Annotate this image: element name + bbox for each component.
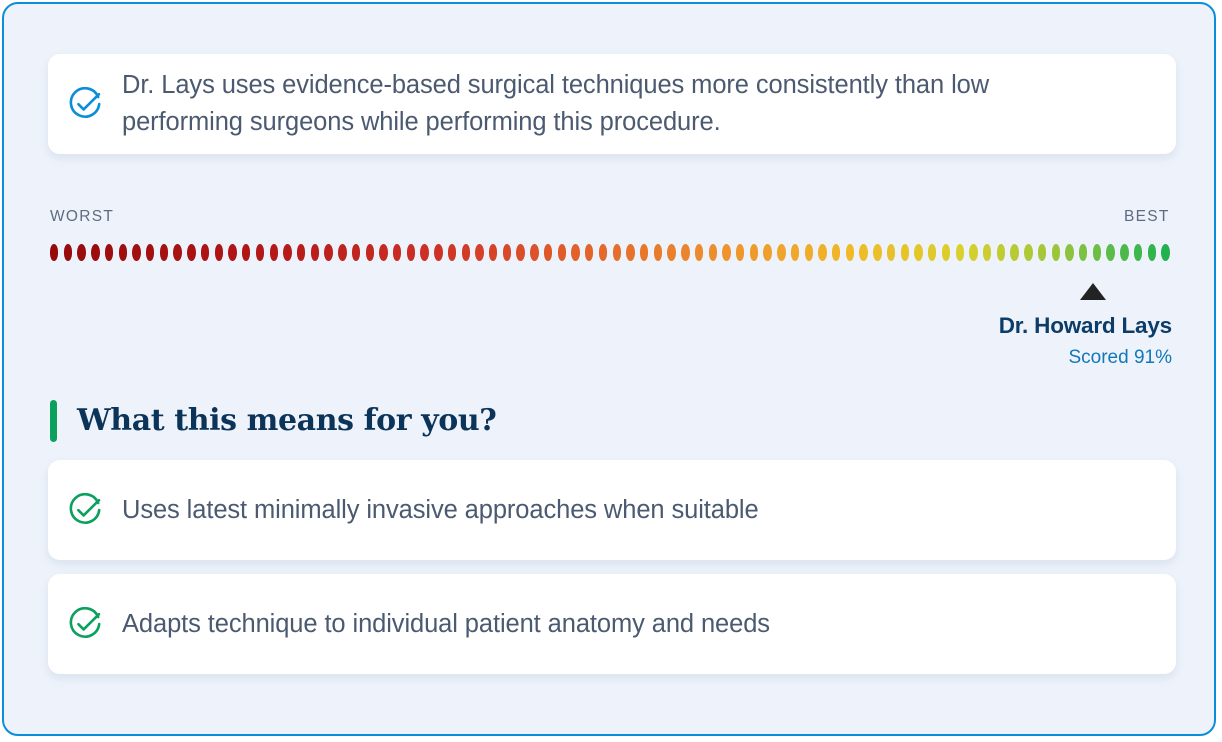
scale-dot [914,244,922,261]
scale-dot [956,244,964,261]
scale-dot [530,244,538,261]
scale-dot [777,244,785,261]
scale-dot [1148,244,1156,261]
scale-dot [1010,244,1018,261]
summary-text: Dr. Lays uses evidence-based surgical te… [122,67,1102,141]
scale-dot [859,244,867,261]
check-circle-icon [68,607,102,641]
scale-dot [997,244,1005,261]
scale-dot [407,244,415,261]
scale-dot [1093,244,1101,261]
scale-dot [571,244,579,261]
scale-dot [1065,244,1073,261]
scale-dot [942,244,950,261]
scale-dot [393,244,401,261]
scale-dot [763,244,771,261]
scale-dot [242,244,250,261]
scale-dot [599,244,607,261]
scale-dot [613,244,621,261]
check-circle-icon [68,87,102,121]
scale-dot [91,244,99,261]
scale-dot [887,244,895,261]
scale-dot [667,244,675,261]
scale-dot [105,244,113,261]
scale-dot [585,244,593,261]
scale-dot [1106,244,1114,261]
app-frame: Dr. Lays uses evidence-based surgical te… [2,2,1216,736]
performance-dot-scale [50,244,1176,264]
scale-dot [1134,244,1142,261]
scale-dot [516,244,524,261]
scale-dot [215,244,223,261]
scale-dot [1120,244,1128,261]
scale-dot [626,244,634,261]
scale-dot [132,244,140,261]
scale-dot [846,244,854,261]
scale-dot [681,244,689,261]
marker-doctor-name: Dr. Howard Lays [999,313,1172,339]
scale-dot [928,244,936,261]
scale-dot [873,244,881,261]
scale-dot [1161,244,1169,261]
benefit-text: Uses latest minimally invasive approache… [122,492,759,529]
scale-dot [640,244,648,261]
scale-dot [832,244,840,261]
scale-dot [77,244,85,261]
scale-dot [324,244,332,261]
scale-label-best: BEST [1124,208,1170,226]
scale-dot [1024,244,1032,261]
scale-dot [709,244,717,261]
scale-dot [969,244,977,261]
heading-accent-bar [50,400,57,442]
scale-dot [187,244,195,261]
scale-dot [352,244,360,261]
scale-dot [64,244,72,261]
scale-dot [283,244,291,261]
triangle-marker-icon [1080,283,1106,300]
scale-dot [1038,244,1046,261]
scale-dot [434,244,442,261]
scale-dot [338,244,346,261]
scale-dot [805,244,813,261]
scale-dot [201,244,209,261]
benefit-text: Adapts technique to individual patient a… [122,606,770,643]
scale-dot [173,244,181,261]
scale-dot [654,244,662,261]
scale-dot [1079,244,1087,261]
scale-dot [558,244,566,261]
benefit-card: Adapts technique to individual patient a… [48,574,1176,674]
scale-dot [503,244,511,261]
scale-dot [270,244,278,261]
scale-dot [983,244,991,261]
scale-dot [119,244,127,261]
scale-marker: Dr. Howard Lays Scored 91% [4,283,1216,383]
marker-score-text: Scored 91% [1068,347,1172,369]
section-heading-text: What this means for you? [77,406,496,436]
scale-dot [736,244,744,261]
scale-dot [462,244,470,261]
scale-dot [146,244,154,261]
summary-card: Dr. Lays uses evidence-based surgical te… [48,54,1176,154]
scale-dot [366,244,374,261]
scale-dot [297,244,305,261]
check-circle-icon [68,493,102,527]
scale-dot [791,244,799,261]
scale-dot [722,244,730,261]
scale-dot [475,244,483,261]
scale-dot [448,244,456,261]
scale-dot [420,244,428,261]
scale-dot [544,244,552,261]
benefit-card: Uses latest minimally invasive approache… [48,460,1176,560]
scale-dot [750,244,758,261]
scale-dot [50,244,58,261]
scale-dot [1052,244,1060,261]
scale-dot [228,244,236,261]
section-heading: What this means for you? [50,400,496,442]
scale-dot [818,244,826,261]
scale-dot [695,244,703,261]
scale-dot [489,244,497,261]
scale-dot [256,244,264,261]
scale-dot [379,244,387,261]
scale-dot [160,244,168,261]
scale-dot [901,244,909,261]
scale-dot [311,244,319,261]
scale-label-worst: WORST [50,208,114,226]
